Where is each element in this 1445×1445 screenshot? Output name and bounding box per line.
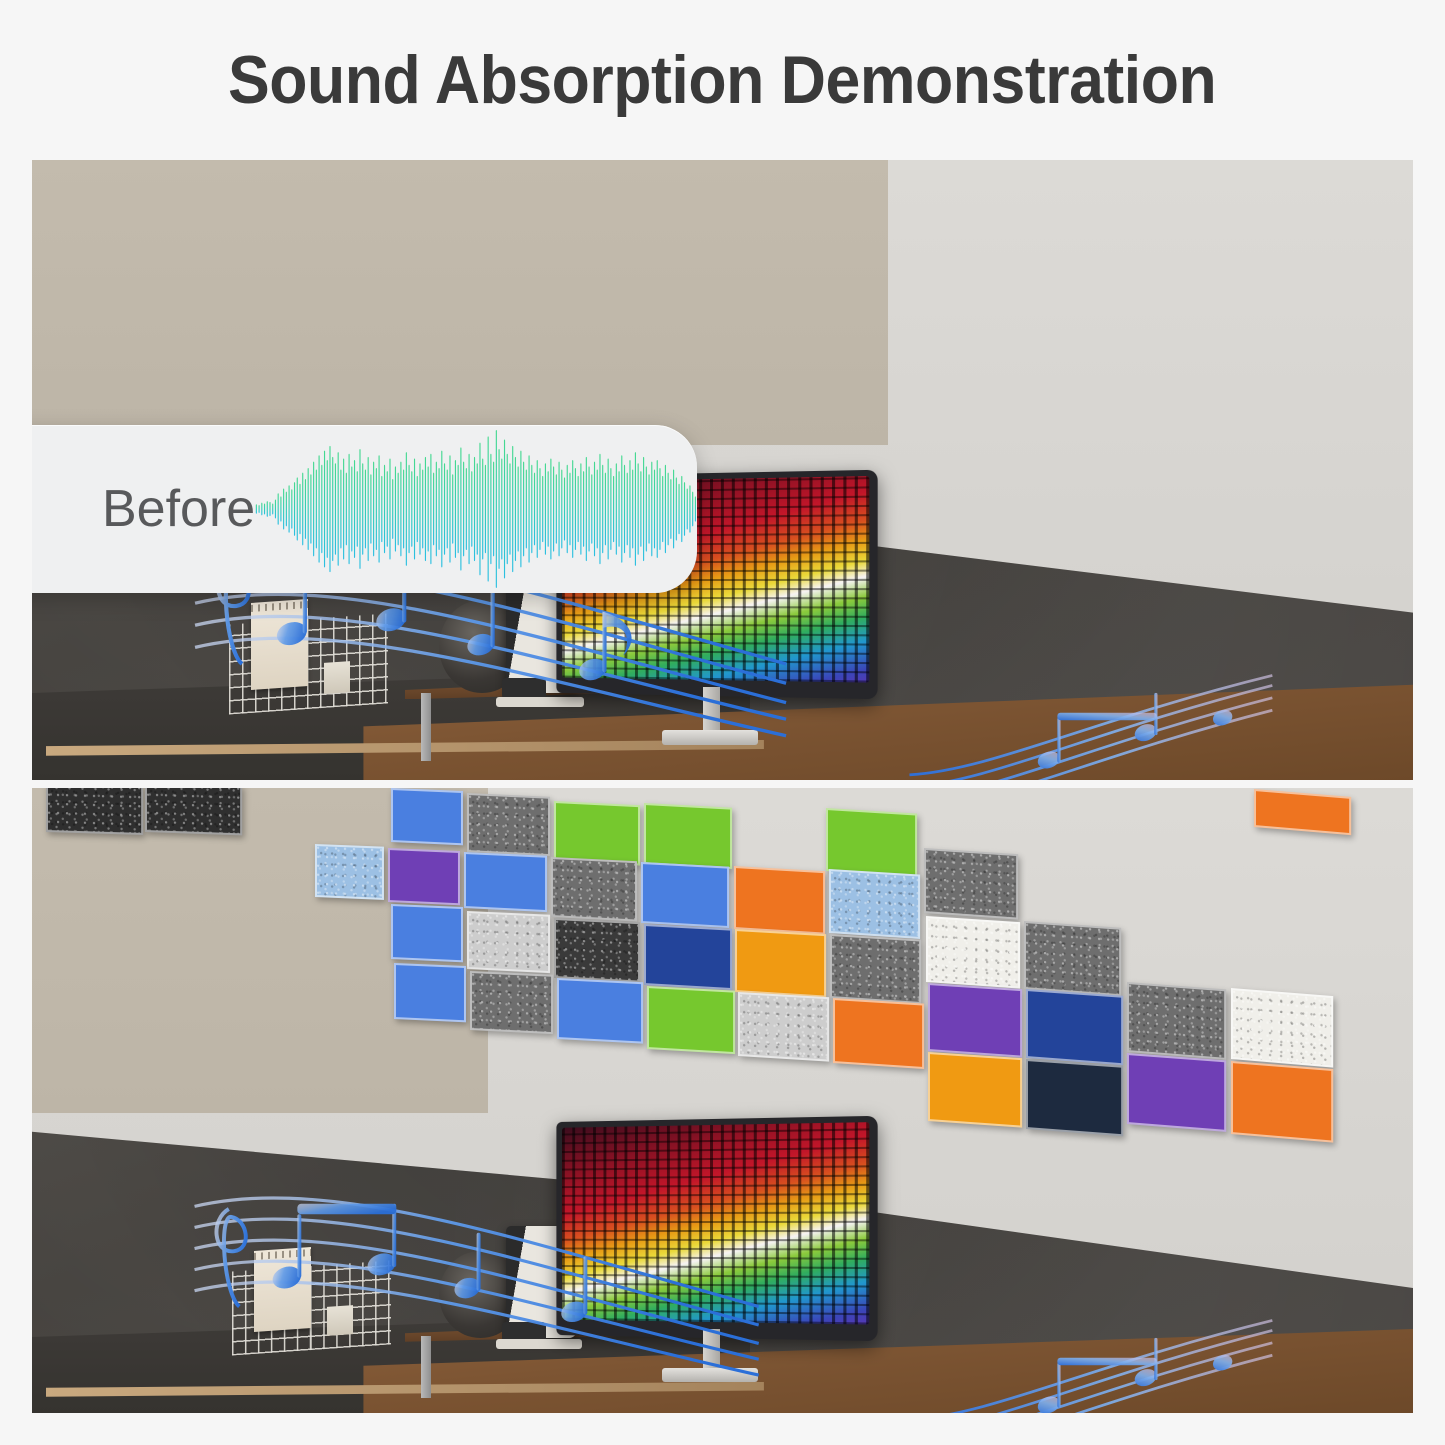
acoustic-tile: [470, 971, 553, 1034]
acoustic-tile: [551, 857, 637, 922]
monitor-stand: [703, 687, 720, 737]
speaker-base-after: [496, 1339, 582, 1348]
page-title: Sound Absorption Demonstration: [228, 41, 1216, 119]
riser-leg: [421, 693, 431, 761]
equalizer-grid-overlay-after: [562, 1122, 869, 1324]
before-label-card: Before: [32, 425, 697, 593]
acoustic-tile: [1127, 982, 1227, 1060]
product-comparison-image: Sound Absorption Demonstration: [0, 0, 1445, 1445]
acoustic-tile: [926, 916, 1020, 989]
acoustic-tile: [833, 998, 924, 1069]
notepad-spiral-binding: [252, 601, 309, 612]
acoustic-tile: [46, 788, 143, 835]
monitor-foot-after: [662, 1368, 759, 1382]
acoustic-tile: [1026, 989, 1123, 1065]
riser-leg-after: [421, 1336, 431, 1399]
organizer-cup-after: [328, 1305, 353, 1335]
monitor-foot: [662, 730, 759, 745]
spiral-notepad-after: [254, 1248, 311, 1333]
speaker-base: [496, 697, 584, 707]
before-label: Before: [102, 479, 255, 539]
acoustic-tile: [1254, 789, 1351, 835]
monitor-screen-after: [562, 1122, 869, 1324]
acoustic-tile: [735, 929, 826, 997]
acoustic-tile: [928, 1052, 1022, 1127]
before-waveform: [255, 425, 697, 593]
acoustic-tile: [644, 803, 732, 869]
spiral-notepad: [252, 599, 309, 689]
acoustic-tile: [464, 852, 547, 912]
acoustic-tile: [738, 992, 829, 1061]
acoustic-tile: [557, 978, 643, 1044]
acoustic-tile: [1024, 921, 1121, 996]
before-photo-panel: Before: [32, 160, 1413, 780]
acoustic-tile: [1231, 988, 1333, 1068]
acoustic-tile: [1231, 1061, 1333, 1142]
acoustic-tile: [554, 801, 640, 866]
monitor-stand-after: [703, 1329, 720, 1373]
wire-file-organizer-after: [232, 1261, 391, 1356]
beige-wall: [32, 160, 888, 445]
acoustic-tile: [145, 788, 242, 835]
acoustic-tile: [554, 918, 640, 983]
acoustic-tile: [1127, 1053, 1227, 1132]
acoustic-tile: [644, 924, 732, 990]
wire-file-organizer: [229, 613, 388, 714]
acoustic-tile: [388, 848, 460, 905]
acoustic-tile: [391, 904, 463, 962]
acoustic-tile: [647, 986, 735, 1054]
acoustic-tile: [826, 808, 917, 877]
title-bar: Sound Absorption Demonstration: [0, 0, 1445, 160]
acoustic-tile: [467, 793, 550, 856]
acoustic-tile: [315, 844, 384, 899]
notepad-spiral-binding-after: [254, 1250, 311, 1261]
acoustic-tile: [830, 934, 921, 1004]
acoustic-tile: [391, 788, 463, 845]
acoustic-tile: [641, 862, 729, 928]
acoustic-tile: [829, 869, 920, 939]
acoustic-tile: [924, 848, 1018, 920]
acoustic-tile: [1026, 1059, 1123, 1136]
organizer-cup: [325, 661, 350, 693]
acoustic-tile: [467, 911, 550, 973]
acoustic-tile: [928, 983, 1022, 1057]
acoustic-tile: [734, 866, 825, 934]
curved-monitor-after: [556, 1116, 877, 1341]
after-photo-panel: After: [32, 788, 1413, 1413]
acoustic-tile: [394, 963, 466, 1023]
